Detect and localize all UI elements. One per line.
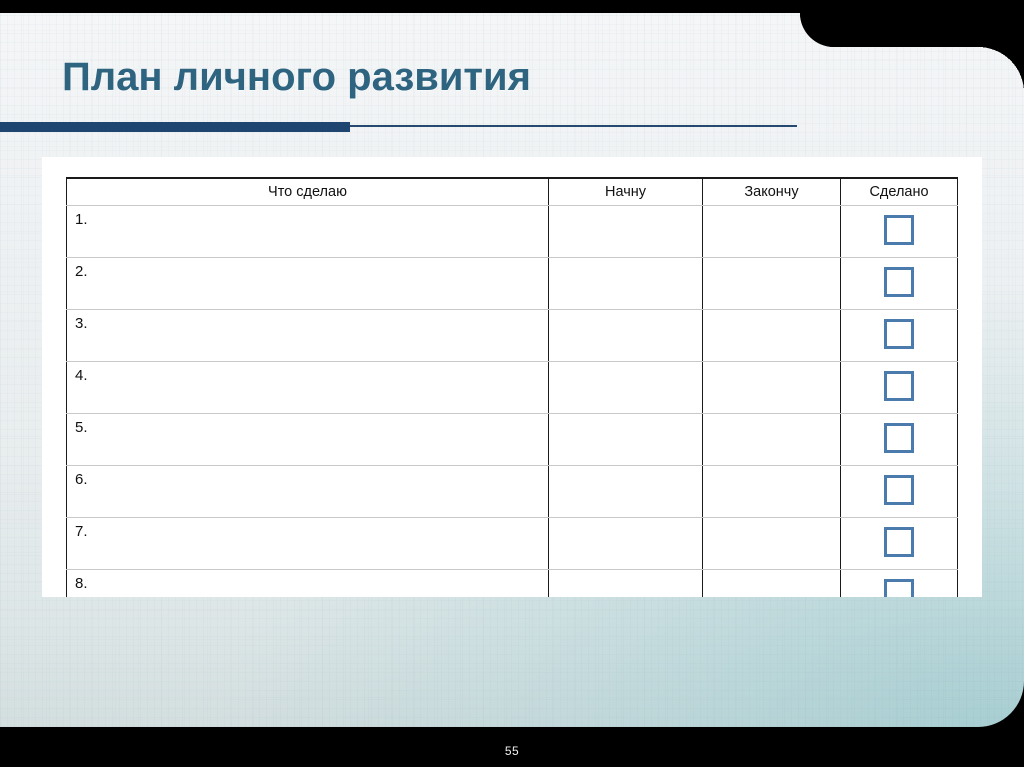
done-checkbox[interactable] [884, 579, 914, 597]
done-cell[interactable] [841, 258, 958, 310]
start-value [549, 258, 702, 309]
end-cell[interactable] [703, 414, 841, 466]
start-cell[interactable] [549, 258, 703, 310]
end-value [703, 466, 840, 517]
task-cell[interactable]: 6. [67, 466, 549, 518]
end-cell[interactable] [703, 310, 841, 362]
top-right-tab-notch-cap [800, 13, 1024, 47]
start-cell[interactable] [549, 570, 703, 598]
start-cell[interactable] [549, 466, 703, 518]
done-checkbox[interactable] [884, 527, 914, 557]
end-value [703, 570, 840, 597]
column-header-task: Что сделаю [67, 178, 549, 206]
done-checkbox[interactable] [884, 423, 914, 453]
end-value [703, 258, 840, 309]
done-cell[interactable] [841, 310, 958, 362]
done-cell[interactable] [841, 466, 958, 518]
page-number: 55 [0, 744, 1024, 758]
done-cell[interactable] [841, 206, 958, 258]
column-header-done: Сделано [841, 178, 958, 206]
done-checkbox[interactable] [884, 371, 914, 401]
end-value [703, 414, 840, 465]
table-row: 7. [67, 518, 958, 570]
title-block: План личного развития [0, 55, 1024, 133]
row-index-label: 1. [67, 206, 548, 228]
start-cell[interactable] [549, 518, 703, 570]
start-value [549, 466, 702, 517]
table-row: 3. [67, 310, 958, 362]
table-header-row: Что сделаю Начну Закончу Сделано [67, 178, 958, 206]
start-value [549, 570, 702, 597]
table-row: 2. [67, 258, 958, 310]
row-index-label: 4. [67, 362, 548, 384]
end-cell[interactable] [703, 206, 841, 258]
personal-development-plan-table: Что сделаю Начну Закончу Сделано 1. 2. [66, 177, 958, 597]
row-index-label: 3. [67, 310, 548, 332]
end-cell[interactable] [703, 570, 841, 598]
table-row: 4. [67, 362, 958, 414]
start-value [549, 206, 702, 257]
table-body: 1. 2. 3. 4. [67, 206, 958, 598]
end-value [703, 362, 840, 413]
start-cell[interactable] [549, 362, 703, 414]
table-row: 5. [67, 414, 958, 466]
end-cell[interactable] [703, 518, 841, 570]
task-cell[interactable]: 5. [67, 414, 549, 466]
start-value [549, 310, 702, 361]
start-cell[interactable] [549, 414, 703, 466]
column-header-start: Начну [549, 178, 703, 206]
end-value [703, 518, 840, 569]
end-cell[interactable] [703, 362, 841, 414]
table-row: 1. [67, 206, 958, 258]
row-index-label: 6. [67, 466, 548, 488]
task-cell[interactable]: 1. [67, 206, 549, 258]
row-index-label: 5. [67, 414, 548, 436]
done-checkbox[interactable] [884, 475, 914, 505]
end-cell[interactable] [703, 258, 841, 310]
done-cell[interactable] [841, 414, 958, 466]
done-checkbox[interactable] [884, 319, 914, 349]
task-cell[interactable]: 7. [67, 518, 549, 570]
end-value [703, 206, 840, 257]
column-header-end: Закончу [703, 178, 841, 206]
row-index-label: 2. [67, 258, 548, 280]
row-index-label: 7. [67, 518, 548, 540]
table-row: 8. [67, 570, 958, 598]
start-value [549, 362, 702, 413]
row-index-label: 8. [67, 570, 548, 592]
end-value [703, 310, 840, 361]
task-cell[interactable]: 3. [67, 310, 549, 362]
title-underline-thick [0, 122, 350, 132]
slide-root: План личного развития Что сделаю Начну З… [0, 0, 1024, 767]
table-row: 6. [67, 466, 958, 518]
done-checkbox[interactable] [884, 267, 914, 297]
task-cell[interactable]: 4. [67, 362, 549, 414]
task-cell[interactable]: 2. [67, 258, 549, 310]
start-cell[interactable] [549, 206, 703, 258]
page-title: План личного развития [62, 55, 531, 100]
content-card: Что сделаю Начну Закончу Сделано 1. 2. [42, 157, 982, 597]
done-cell[interactable] [841, 570, 958, 598]
done-cell[interactable] [841, 362, 958, 414]
start-cell[interactable] [549, 310, 703, 362]
done-cell[interactable] [841, 518, 958, 570]
title-underline-thin [350, 125, 797, 127]
start-value [549, 518, 702, 569]
end-cell[interactable] [703, 466, 841, 518]
done-checkbox[interactable] [884, 215, 914, 245]
task-cell[interactable]: 8. [67, 570, 549, 598]
start-value [549, 414, 702, 465]
